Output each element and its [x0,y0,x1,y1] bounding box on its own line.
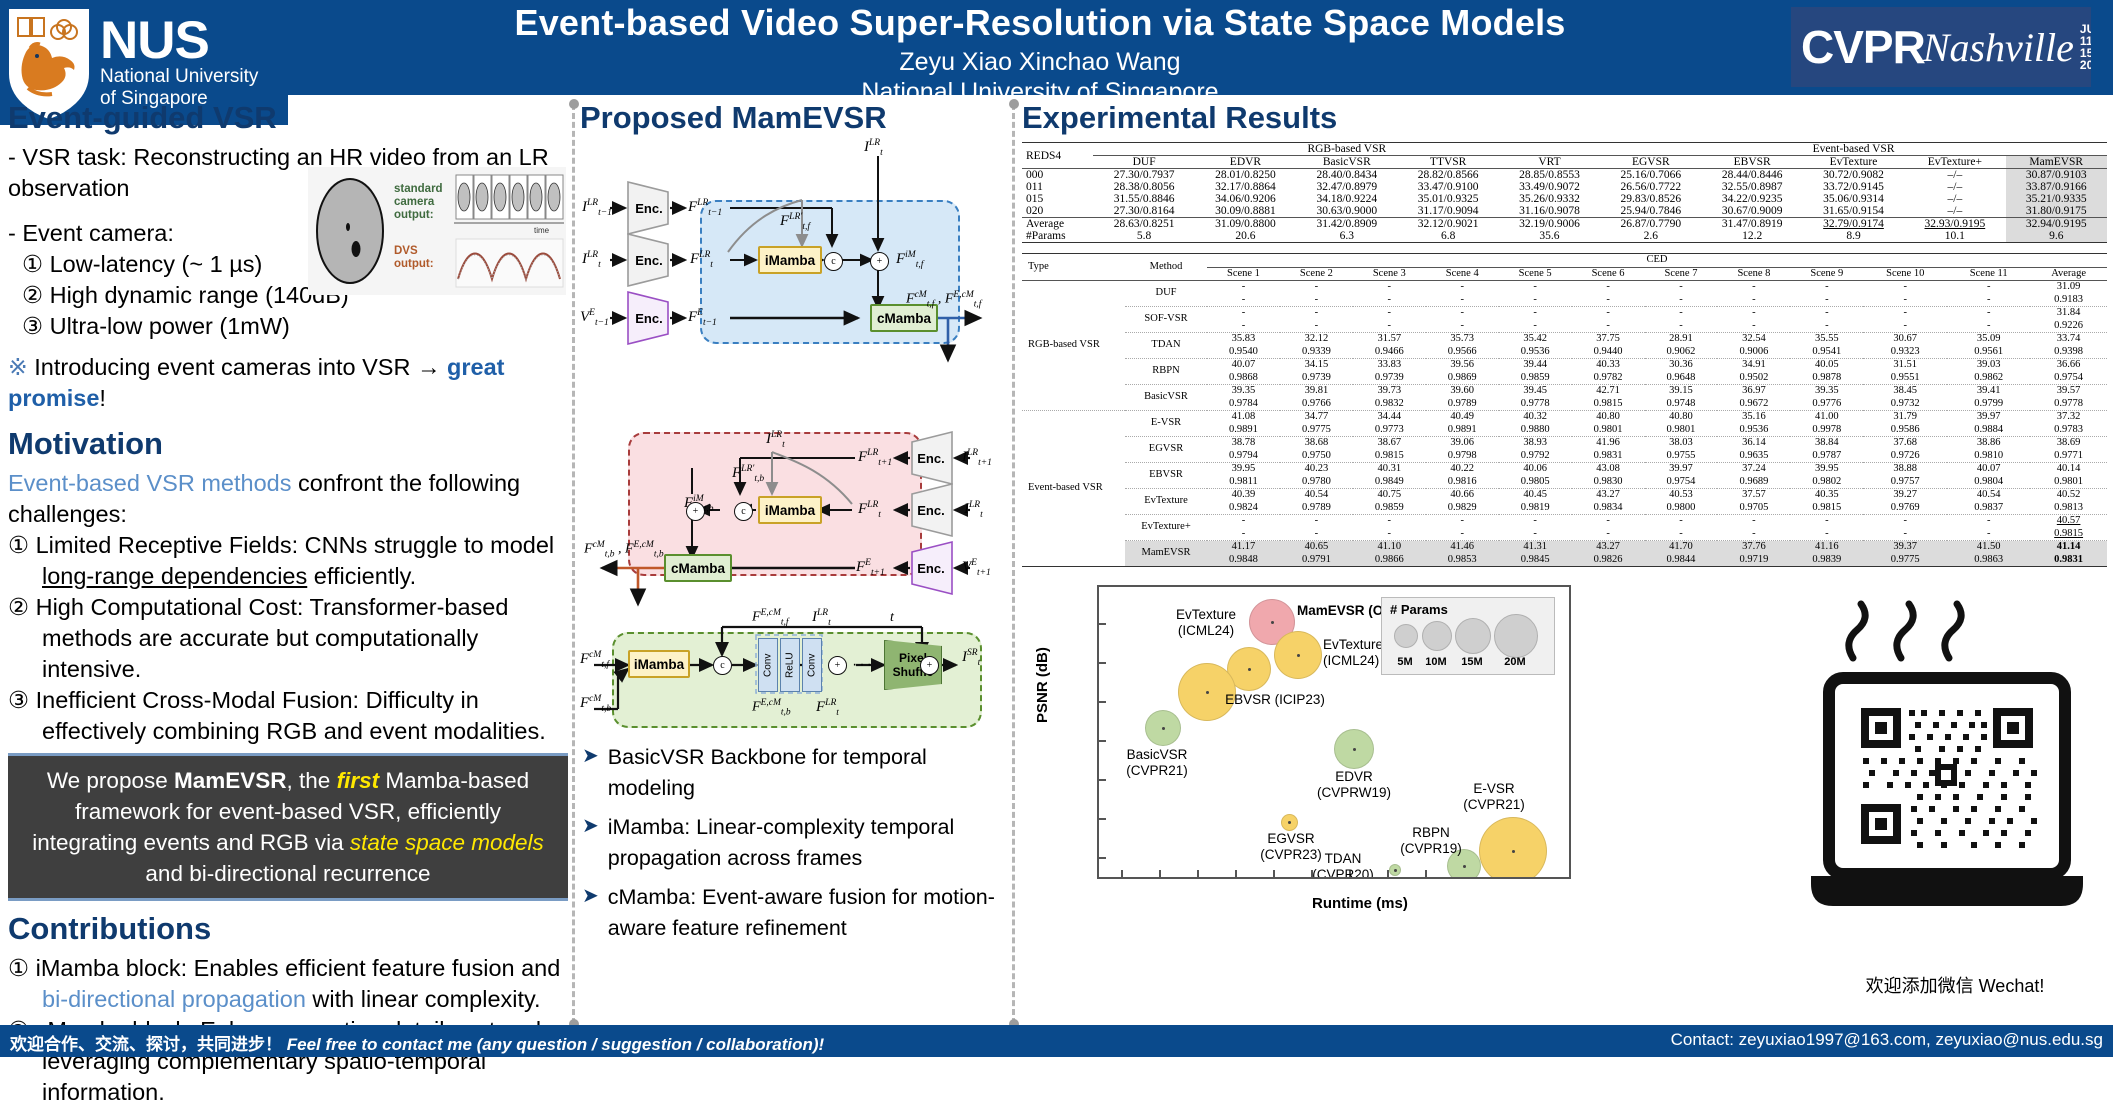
claim-box: We propose MamEVSR, the first Mamba-base… [8,753,568,901]
ced-m9-p10: - [1947,515,2030,528]
reds4-p0: 5.8 [1093,230,1194,243]
reds4-r0c9: 30.87/0.9103 [2006,169,2107,182]
ced-m6-s8: 0.9787 [1790,450,1863,463]
reds4-avg9: 32.94/0.9195 [2006,218,2107,231]
psnr-runtime-chart: PSNR (dB) Runtime (ms) 31 31.5 32 32.5 3… [1022,573,1592,918]
ced-m10-p2: 41.10 [1353,541,1426,554]
reds4-method-0: DUF [1093,156,1194,169]
ced-m4-p7: 36.97 [1717,385,1790,398]
ced-m3-p10: 39.03 [1947,359,2030,372]
label-feat-lr-t1-b: FLRt+1 [858,448,892,468]
bullet-2: ➤iMamba: Linear-complexity temporal prop… [582,812,997,874]
ced-m2-p7: 32.54 [1717,333,1790,346]
ced-m5-p4: 40.32 [1499,411,1572,424]
ced-m0-p2: - [1353,281,1426,294]
ced-m5-p9: 31.79 [1863,411,1947,424]
ced-m2-p6: 28.91 [1645,333,1718,346]
ced-m3-s4: 0.9859 [1499,372,1572,385]
ced-m8-s8: 0.9815 [1790,502,1863,515]
middle-bullet-list: ➤BasicVSR Backbone for temporal modeling… [582,742,997,952]
conv-block-2: Conv [802,638,822,692]
reds4-r2c9: 35.21/0.9335 [2006,193,2107,205]
nus-name-line1: National University [100,66,258,88]
ced-m0-method: DUF [1125,281,1207,307]
reds4-r2c1: 34.06/0.9206 [1195,193,1296,205]
reds4-r0c7: 30.72/0.9082 [1803,169,1904,182]
motivation-lead: Event-based VSR methods confront the fol… [8,468,568,530]
wechat-caption: 欢迎添加微信 Wechat! [1805,972,2105,998]
ced-m9-p7: - [1717,515,1790,528]
ced-scene-0: Scene 1 [1207,267,1280,281]
reds4-method-2: BasicVSR [1296,156,1397,169]
bullet-1: ➤BasicVSR Backbone for temporal modeling [582,742,997,804]
label-top-input-lr-2: ILRt [766,430,785,450]
chart-label-ebvsr: EBVSR (ICIP23) [1225,692,1325,708]
ced-m1-p0: - [1207,307,1280,320]
ced-m5-s5: 0.9801 [1572,424,1645,437]
ced-m4-s4: 0.9778 [1499,398,1572,411]
ced-m6-p6: 38.03 [1645,437,1718,450]
encoder-1-label: Enc. [630,188,668,228]
ced-m8-s6: 0.9800 [1645,502,1718,515]
ced-scene-9: Scene 10 [1863,267,1947,281]
ced-m10-p1: 40.65 [1280,541,1353,554]
ced-m8-p11: 40.52 [2030,489,2107,502]
ced-m8-s2: 0.9859 [1353,502,1426,515]
ced-m5-s3: 0.9891 [1426,424,1499,437]
chart-point-egvsr [1281,814,1298,831]
ced-m7-s6: 0.9754 [1645,476,1718,489]
reds4-avg2: 31.42/0.8909 [1296,218,1397,231]
ced-m1-p7: - [1717,307,1790,320]
event-camera-item-3: ③ Ultra-low power (1mW) [8,311,568,342]
ced-m1-p1: - [1280,307,1353,320]
ced-m7-s2: 0.9849 [1353,476,1426,489]
ced-m3-p4: 39.44 [1499,359,1572,372]
ced-m4-p1: 39.81 [1280,385,1353,398]
ced-m0-p9: - [1863,281,1947,294]
label-fprime-backward: FLR′t,b [732,464,764,484]
ced-m7-p4: 40.06 [1499,463,1572,476]
ced-m5-s2: 0.9773 [1353,424,1426,437]
add-node-forward: + [870,252,889,271]
ced-m5-p11: 37.32 [2030,411,2107,424]
reds4-r1c7: 33.72/0.9145 [1803,181,1904,193]
ced-m3-p1: 34.15 [1280,359,1353,372]
ced-m2-p2: 31.57 [1353,333,1426,346]
ced-m3-p5: 40.33 [1572,359,1645,372]
relu-block: ReLU [780,638,800,692]
ced-m6-s9: 0.9726 [1863,450,1947,463]
ced-m2-s8: 0.9541 [1790,346,1863,359]
ced-m8-p9: 39.27 [1863,489,1947,502]
ced-m7-s9: 0.9757 [1863,476,1947,489]
ced-m10-method: MamEVSR [1125,541,1207,567]
ced-m10-s0: 0.9848 [1207,554,1280,567]
ced-m0-p11: 31.09 [2030,281,2107,294]
reds4-row0-id: 000 [1022,169,1093,182]
ced-m7-s11: 0.9801 [2030,476,2107,489]
ced-m3-s0: 0.9868 [1207,372,1280,385]
reds4-r1c9: 33.87/0.9166 [2006,181,2107,193]
reds4-r3c7: 31.65/0.9154 [1803,205,1904,218]
ced-m4-s2: 0.9832 [1353,398,1426,411]
ced-m3-p8: 40.05 [1790,359,1863,372]
conv-block-1: Conv [758,638,778,692]
ced-m4-p8: 39.35 [1790,385,1863,398]
ced-m7-s5: 0.9830 [1572,476,1645,489]
ced-m2-s11: 0.9398 [2030,346,2107,359]
reds4-params-row: #Params 5.8 20.6 6.3 6.8 35.6 2.6 12.2 8… [1022,230,2107,243]
concat-node-backward: c [734,502,753,521]
ced-m4-s9: 0.9732 [1863,398,1947,411]
ced-m1-s0: - [1207,320,1280,333]
ced-m2-p4: 35.42 [1499,333,1572,346]
ced-m8-p0: 40.39 [1207,489,1280,502]
chart-label-evsr: E-VSR (CVPR21) [1444,781,1544,813]
ced-m2-p5: 37.75 [1572,333,1645,346]
asterisk-icon: ※ [8,354,28,380]
ced-m0-s1: - [1280,294,1353,307]
intro-excl: ! [99,385,106,411]
ced-m0-s7: - [1717,294,1790,307]
ced-m3-s6: 0.9648 [1645,372,1718,385]
chart-label-edvr: EDVR (CVPRW19) [1304,769,1404,801]
ced-m7-p5: 43.08 [1572,463,1645,476]
reds4-table: REDS4 RGB-based VSR Event-based VSR DUF … [1022,142,2107,243]
encoder-4-label: Enc. [912,438,950,478]
ced-m5-s10: 0.9884 [1947,424,2030,437]
table-row: RGB-based VSRDUF -----------31.09 [1022,281,2107,294]
ced-m5-p10: 39.97 [1947,411,2030,424]
ced-m3-s11: 0.9754 [2030,372,2107,385]
reds4-p6: 12.2 [1702,230,1803,243]
ced-m8-s1: 0.9789 [1280,502,1353,515]
nus-acronym: NUS [100,16,258,66]
label-input-event-b: VEt+1 [962,558,991,578]
ced-m5-p1: 34.77 [1280,411,1353,424]
ced-m8-p1: 40.54 [1280,489,1353,502]
reds4-r3c3: 31.17/0.9094 [1397,205,1498,218]
ced-m4-p10: 39.41 [1947,385,2030,398]
ced-m7-p1: 40.23 [1280,463,1353,476]
ced-m2-p10: 35.09 [1947,333,2030,346]
ced-m1-s2: - [1353,320,1426,333]
ced-m9-s10: - [1947,528,2030,541]
intro-text: Introducing event cameras into VSR → [34,354,447,380]
ced-m4-s8: 0.9776 [1790,398,1863,411]
ced-m4-method: BasicVSR [1125,385,1207,411]
ced-m10-s9: 0.9775 [1863,554,1947,567]
ced-m10-p5: 43.27 [1572,541,1645,554]
motivation-lead-blue: Event-based VSR methods [8,470,291,496]
ced-m0-p3: - [1426,281,1499,294]
reds4-r1c4: 33.49/0.9072 [1499,181,1600,193]
contribution-1-b: with linear complexity. [306,986,541,1012]
challenge-2-a: High Computational Cost: Transformer-bas… [36,594,509,682]
reds4-avg7: 32.79/0.9174 [1803,218,1904,231]
ced-m6-p10: 38.86 [1947,437,2030,450]
label-top-input-lr: ILRt [864,138,883,158]
contribution-1-a: iMamba block: Enables efficient feature … [36,955,561,981]
ced-m10-s6: 0.9844 [1645,554,1718,567]
dvs-l1: DVS [394,245,418,257]
reds4-r0c6: 28.44/0.8446 [1702,169,1803,182]
ced-m9-p4: - [1499,515,1572,528]
challenge-1-a: Limited Receptive Fields: CNNs struggle … [36,532,555,558]
ced-scene-8: Scene 9 [1790,267,1863,281]
ced-m2-s6: 0.9062 [1645,346,1718,359]
label-feat-lr-t-b: FLRt [858,500,881,520]
column-divider-1 [572,104,575,1024]
ced-m6-method: EGVSR [1125,437,1207,463]
ellipsis-label: ··· [852,656,874,674]
ced-m7-p2: 40.31 [1353,463,1426,476]
table-row: SOF-VSR -----------31.84 [1022,307,2107,320]
ced-m6-p5: 41.96 [1572,437,1645,450]
reds4-r1c8: –/– [1904,181,2005,193]
ced-m5-s9: 0.9586 [1863,424,1947,437]
ced-m10-p11: 41.14 [2030,541,2107,554]
label-input-t: ILRt [582,250,601,270]
ced-m3-p0: 40.07 [1207,359,1280,372]
encoder-2-label: Enc. [630,240,668,280]
ced-m1-p5: - [1572,307,1645,320]
ced-m5-s1: 0.9775 [1280,424,1353,437]
ced-m8-s3: 0.9829 [1426,502,1499,515]
cvpr-label: CVPR [1791,20,1925,74]
concat-node-recon: c [713,656,732,675]
ced-m9-p3: - [1426,515,1499,528]
ced-m1-p6: - [1645,307,1718,320]
table-row: EGVSR 38.7838.6838.6739.0638.9341.9638.0… [1022,437,2107,450]
ced-m6-p0: 38.78 [1207,437,1280,450]
ced-m9-s4: - [1499,528,1572,541]
encoder-6-label: Enc. [912,548,950,588]
ced-m9-s5: - [1572,528,1645,541]
ced-m10-s5: 0.9826 [1572,554,1645,567]
ced-m5-p3: 40.49 [1426,411,1499,424]
cvpr-badge: CVPR Nashville JUNE 11-15, 2025 [1791,7,2091,87]
ced-m4-s10: 0.9799 [1947,398,2030,411]
event-camera-figure: time standard camera output: DVS output: [308,167,566,295]
ced-m4-s5: 0.9815 [1572,398,1645,411]
ced-m5-s7: 0.9536 [1717,424,1790,437]
ced-m10-s3: 0.9853 [1426,554,1499,567]
svg-text:time: time [534,226,550,235]
ced-m6-s2: 0.9815 [1353,450,1426,463]
ced-m0-s3: - [1426,294,1499,307]
ced-m3-s10: 0.9862 [1947,372,2030,385]
poster-root: NUS National University of Singapore Eve… [0,0,2113,1057]
label-fim-backward: FiMt,b [684,494,714,514]
ced-m9-p1: - [1280,515,1353,528]
ced-m4-s7: 0.9672 [1717,398,1790,411]
ced-m2-p3: 35.73 [1426,333,1499,346]
ced-m2-s5: 0.9440 [1572,346,1645,359]
reds4-method-9: MamEVSR [2006,156,2107,169]
ced-m0-s4: - [1499,294,1572,307]
ced-m10-s1: 0.9791 [1280,554,1353,567]
reds4-row2-id: 015 [1022,193,1093,205]
reds4-method-5: EGVSR [1600,156,1701,169]
reds4-params-id: #Params [1022,230,1093,243]
claim-method-name: MamEVSR [174,768,287,793]
ced-m5-s11: 0.9783 [2030,424,2107,437]
ced-m10-s4: 0.9845 [1499,554,1572,567]
ced-m4-s3: 0.9789 [1426,398,1499,411]
label-fcm-backward: FcMt,b , FE,cMt,b [584,540,664,559]
ced-m6-s0: 0.9794 [1207,450,1280,463]
reds4-r2c7: 35.06/0.9314 [1803,193,1904,205]
ced-m2-s0: 0.9540 [1207,346,1280,359]
ced-m10-p7: 37.76 [1717,541,1790,554]
label-feat-event-b: FEt+1 [856,558,885,578]
label-fcm-forward: FcMt,f , FE,cMt,f [906,290,981,309]
ced-scene-7: Scene 8 [1717,267,1790,281]
chart-x-axis-label: Runtime (ms) [1312,895,1408,912]
ced-m2-p1: 32.12 [1280,333,1353,346]
ced-m9-p0: - [1207,515,1280,528]
ced-m7-s8: 0.9802 [1790,476,1863,489]
ced-m7-s10: 0.9804 [1947,476,2030,489]
ced-m0-s0: - [1207,294,1280,307]
ced-m8-s5: 0.9834 [1572,502,1645,515]
ced-m3-s1: 0.9739 [1280,372,1353,385]
ced-m9-p5: - [1572,515,1645,528]
reds4-r2c8: –/– [1904,193,2005,205]
section-event-guided-vsr: Event-guided VSR [8,100,568,136]
add-node-final: + [920,656,939,675]
ced-m0-s9: - [1863,294,1947,307]
contribution-1-num: ① [8,955,29,981]
ced-m1-s7: - [1717,320,1790,333]
chart-legend: # Params 5M 10M 15M 20M [1381,597,1555,675]
ced-m10-s2: 0.9866 [1353,554,1426,567]
chart-legend-15m: 15M [1461,656,1482,668]
reds4-avg4: 32.19/0.9006 [1499,218,1600,231]
cvpr-city-label: Nashville [1923,24,2074,71]
chart-legend-10m: 10M [1425,656,1446,668]
reds4-r3c1: 30.09/0.8881 [1195,205,1296,218]
challenge-2: ② High Computational Cost: Transformer-b… [8,592,568,685]
ced-m7-p9: 38.88 [1863,463,1947,476]
concat-node-forward: c [824,252,843,271]
ced-m9-s7: - [1717,528,1790,541]
title-block: Event-based Video Super-Resolution via S… [300,2,1780,107]
ced-m8-p7: 37.57 [1717,489,1790,502]
label-fcm-b-in: FcMt,b [580,694,611,714]
chart-plot-area: 31 31.5 32 32.5 33 33.5 34 10² 10³ [1097,585,1571,879]
ced-m3-s7: 0.9502 [1717,372,1790,385]
challenge-1-underline: long-range dependencies [42,563,307,589]
reds4-method-8: EvTexture+ [1904,156,2005,169]
ced-m0-p10: - [1947,281,2030,294]
ced-m10-p4: 41.31 [1499,541,1572,554]
ced-m4-p0: 39.35 [1207,385,1280,398]
reds4-r3c0: 27.30/0.8164 [1093,205,1194,218]
reds4-r1c5: 26.56/0.7722 [1600,181,1701,193]
ced-m6-s11: 0.9771 [2030,450,2107,463]
label-flr-t-bottom: FLRt [816,698,839,718]
ced-m6-s7: 0.9635 [1717,450,1790,463]
ced-m7-p7: 37.24 [1717,463,1790,476]
ced-scene-10: Scene 11 [1947,267,2030,281]
ced-col-method: Method [1125,254,1207,281]
chart-point-basicvsr [1145,710,1181,746]
ced-scene-2: Scene 3 [1353,267,1426,281]
ced-scene-1: Scene 2 [1280,267,1353,281]
ced-m6-p8: 38.84 [1790,437,1863,450]
reds4-p2: 6.3 [1296,230,1397,243]
ced-m7-s4: 0.9805 [1499,476,1572,489]
ced-m0-p1: - [1280,281,1353,294]
reds4-r0c2: 28.40/0.8434 [1296,169,1397,182]
challenge-3-a: Inefficient Cross-Modal Fusion: Difficul… [36,687,546,744]
ced-m9-method: EvTexture+ [1125,515,1207,541]
ced-type-event: Event-based VSR [1022,411,1125,567]
ced-m0-p0: - [1207,281,1280,294]
ced-m10-p0: 41.17 [1207,541,1280,554]
ced-m1-p2: - [1353,307,1426,320]
imamba-block-backward: iMamba [758,496,822,524]
reds4-r2c0: 31.55/0.8846 [1093,193,1194,205]
reds4-group-event: Event-based VSR [1600,143,2107,156]
ced-m4-p4: 39.45 [1499,385,1572,398]
std-l1: standard [394,183,443,195]
reds4-r0c3: 28.82/0.8566 [1397,169,1498,182]
reds4-corner-label: REDS4 [1022,143,1093,169]
reds4-method-header-row: DUF EDVR BasicVSR TTVSR VRT EGVSR EBVSR … [1022,156,2107,169]
table-row: Event-based VSRE-VSR 41.0834.7734.4440.4… [1022,411,2107,424]
ced-m9-s1: - [1280,528,1353,541]
architecture-diagram: Enc. Enc. Enc. iMamba cMamba c + ILRt−1 … [580,142,1000,902]
reds4-p4: 35.6 [1499,230,1600,243]
ced-m4-p5: 42.71 [1572,385,1645,398]
ced-m1-p8: - [1790,307,1863,320]
ced-m10-s7: 0.9719 [1717,554,1790,567]
footer-left-cn: 欢迎合作、交流、探讨，共同进步！ [10,1035,282,1054]
ced-m8-s7: 0.9705 [1717,502,1790,515]
imamba-block-recon: iMamba [628,650,690,678]
label-input-event: VEt−1 [580,308,609,328]
ced-m7-s3: 0.9816 [1426,476,1499,489]
reds4-row1-id: 011 [1022,181,1093,193]
dvs-l2: output: [394,258,434,270]
bullet-arrow-icon-2: ➤ [582,812,599,874]
reds4-avg6: 31.47/0.8919 [1702,218,1803,231]
chart-label-evtexture: EvTexture (ICML24) [1151,607,1261,639]
ced-m8-p4: 40.45 [1499,489,1572,502]
claim-ssm-emph: state space models [350,830,544,855]
ced-m5-p8: 41.00 [1790,411,1863,424]
reds4-p1: 20.6 [1195,230,1296,243]
reds4-r3c8: –/– [1904,205,2005,218]
label-input-t-b: ILRt [964,500,983,520]
ced-m7-method: EBVSR [1125,463,1207,489]
reds4-p7: 8.9 [1803,230,1904,243]
reds4-p3: 6.8 [1397,230,1498,243]
reds4-r1c0: 28.38/0.8056 [1093,181,1194,193]
claim-first-emph: first [337,768,380,793]
label-input-t1: ILRt+1 [962,448,992,468]
ced-scene-5: Scene 6 [1572,267,1645,281]
ced-m3-s2: 0.9739 [1353,372,1426,385]
section-contributions: Contributions [8,911,568,947]
reds4-p5: 2.6 [1600,230,1701,243]
ced-col-type: Type [1022,254,1125,281]
ced-m8-s0: 0.9824 [1207,502,1280,515]
